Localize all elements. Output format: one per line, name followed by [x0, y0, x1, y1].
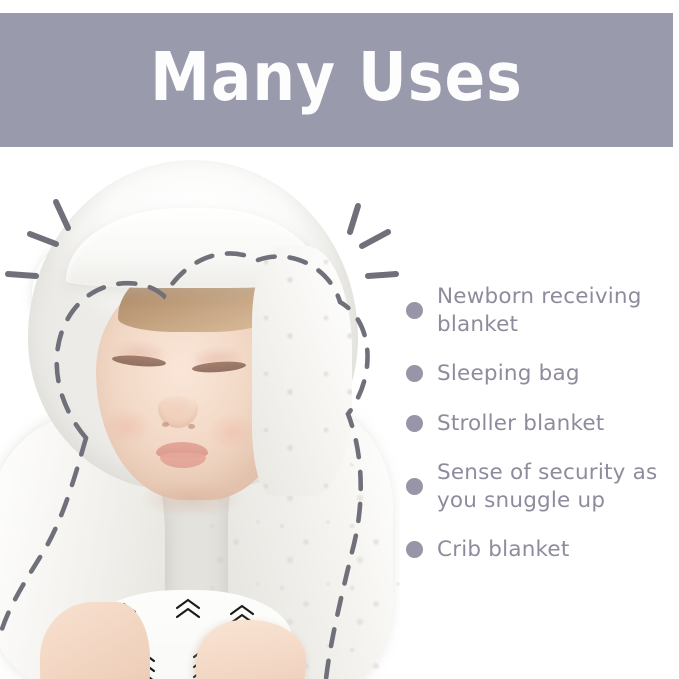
product-photo [0, 150, 400, 679]
bullet-icon [406, 478, 423, 495]
list-item-label: Newborn receiving blanket [437, 283, 672, 338]
baby-cheek-left [96, 402, 160, 450]
list-item[interactable]: Stroller blanket [406, 410, 672, 438]
baby-photo-subject [0, 150, 400, 679]
bullet-icon [406, 541, 423, 558]
list-item[interactable]: Crib blanket [406, 536, 672, 564]
list-item-label: Crib blanket [437, 536, 569, 564]
header-banner: Many Uses [0, 13, 673, 147]
list-item-label: Sense of security as you snuggle up [437, 459, 672, 514]
list-item-label: Stroller blanket [437, 410, 604, 438]
bullet-icon [406, 415, 423, 432]
list-item[interactable]: Sleeping bag [406, 360, 672, 388]
bullet-icon [406, 365, 423, 382]
uses-list: Newborn receiving blanket Sleeping bag S… [406, 283, 672, 564]
bullet-icon [406, 302, 423, 319]
page-title: Many Uses [150, 44, 523, 116]
list-item[interactable]: Newborn receiving blanket [406, 283, 672, 338]
product-feature-card: Many Uses [0, 0, 679, 679]
hood-side-right [252, 246, 352, 496]
list-item[interactable]: Sense of security as you snuggle up [406, 459, 672, 514]
baby-chin-shadow [122, 480, 262, 524]
baby-nostril-left [162, 422, 169, 427]
list-item-label: Sleeping bag [437, 360, 580, 388]
baby-nostril-right [188, 424, 195, 429]
